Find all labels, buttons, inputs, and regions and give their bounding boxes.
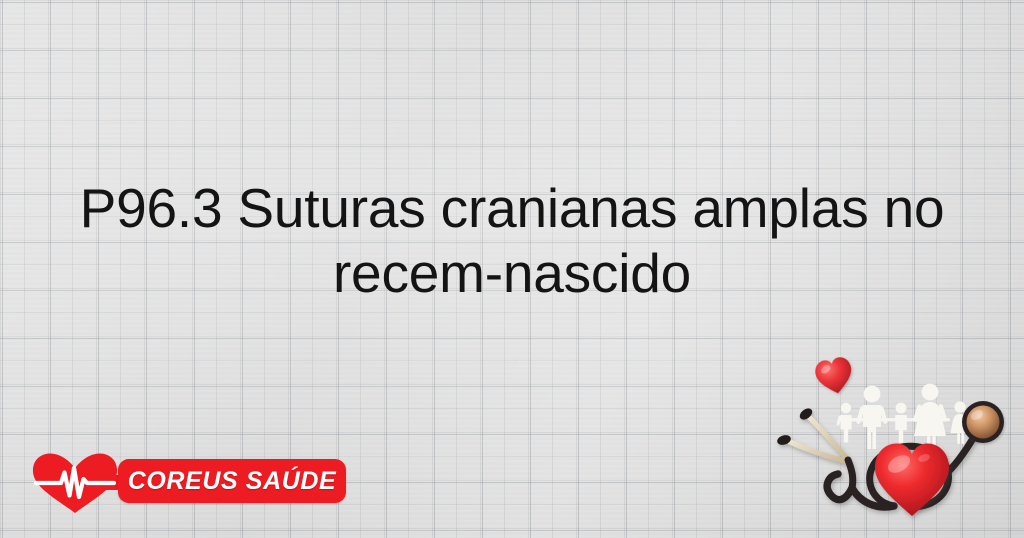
family-silhouette-icon — [836, 384, 974, 450]
page-title: P96.3 Suturas cranianas amplas no recem-… — [52, 176, 972, 306]
healthcare-illustration — [768, 344, 1024, 538]
brand-name: COREUS SAÚDE — [128, 469, 337, 494]
page-title-line-2: recem-nascido — [333, 242, 691, 304]
stethoscope-chestpiece-icon — [962, 401, 1004, 443]
page-title-line-1: P96.3 Suturas cranianas amplas no — [80, 177, 945, 239]
brand-logo[interactable]: COREUS SAÚDE — [30, 450, 350, 514]
brand-badge: COREUS SAÚDE — [118, 459, 346, 503]
small-heart-icon — [813, 355, 855, 397]
promo-card: P96.3 Suturas cranianas amplas no recem-… — [0, 0, 1024, 538]
heart-ecg-icon — [30, 452, 120, 514]
